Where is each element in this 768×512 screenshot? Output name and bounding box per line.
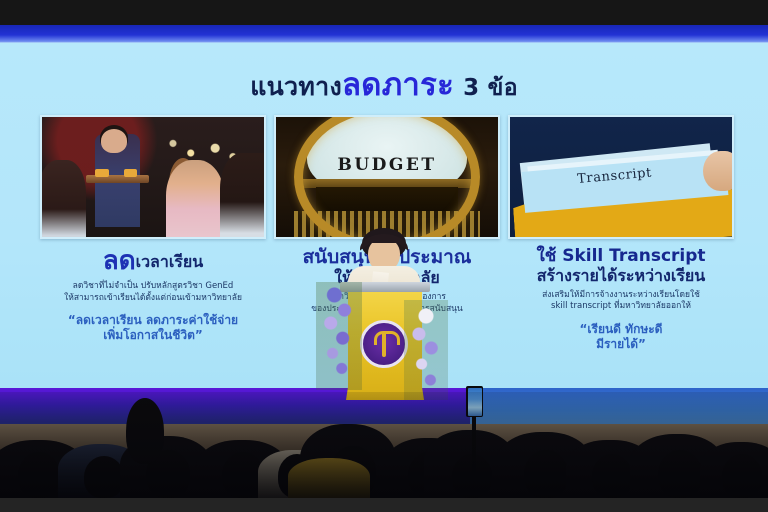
column-1-body-line-2: ให้สามารถเข้าเรียนได้ตั้งแต่ก่อนเข้ามหาว… [40, 293, 266, 304]
slide-title-prefix: แนวทาง [250, 72, 342, 101]
budget-typewriter-photo: BUDGET [274, 115, 500, 239]
column-1-quote-line-1: “ลดเวลาเรียน ลดภาระค่าใช้จ่าย [40, 313, 266, 328]
transcript-documents-photo: Transcript [508, 115, 734, 239]
phone-screen [468, 388, 482, 416]
column-1-quote-line-2: เพิ่มโอกาสในชีวิต” [40, 328, 266, 343]
column-3-quote-line-1: “เรียนดี ทักษะดี [508, 322, 734, 337]
column-3-quote-line-2: มีรายได้” [508, 337, 734, 352]
column-3-body: ส่งเสริมให้มีการจ้างงานระหว่างเรียนโดยใช… [508, 290, 734, 313]
slide-column-3: Transcript ใช้ Skill Transcript สร้างราย… [508, 115, 734, 395]
audience [0, 392, 768, 498]
column-1-quote: “ลดเวลาเรียน ลดภาระค่าใช้จ่าย เพิ่มโอกาส… [40, 313, 266, 343]
university-crest-icon [360, 320, 408, 368]
column-3-heading: ใช้ Skill Transcript สร้างรายได้ระหว่างเ… [508, 247, 734, 285]
letterbox-top [0, 0, 768, 25]
column-3-quote: “เรียนดี ทักษะดี มีรายได้” [508, 322, 734, 352]
slide-title-suffix: 3 ข้อ [463, 75, 518, 101]
column-1-heading-rest: เวลาเรียน [136, 252, 204, 271]
letterbox-bottom [0, 498, 768, 512]
recording-smartphone [466, 386, 483, 417]
column-1-body-line-1: ลดวิชาที่ไม่จำเป็น ปรับหลักสูตรวิชา GenE… [40, 281, 266, 292]
slide-top-blue-band [0, 25, 768, 43]
column-1-heading-big: ลด [103, 246, 136, 276]
column-3-body-line-2: skill transcript ที่มหาวิทยาลัยออกให้ [508, 301, 734, 312]
cafe-students-photo [40, 115, 266, 239]
flower-arrangement-right [404, 300, 448, 400]
slide-title: แนวทางลดภาระ 3 ข้อ [0, 59, 768, 109]
column-1-body: ลดวิชาที่ไม่จำเป็น ปรับหลักสูตรวิชา GenE… [40, 281, 266, 304]
column-3-heading-line-2: สร้างรายได้ระหว่างเรียน [508, 267, 734, 285]
flower-arrangement-left [316, 282, 362, 390]
column-3-body-line-1: ส่งเสริมให้มีการจ้างงานระหว่างเรียนโดยใช… [508, 290, 734, 301]
slide-title-highlight: ลดภาระ [342, 67, 454, 103]
screenshot-frame: แนวทางลดภาระ 3 ข้อ ลดเวลาเรียน [0, 0, 768, 512]
slide-column-1: ลดเวลาเรียน ลดวิชาที่ไม่จำเป็น ปรับหลักส… [40, 115, 266, 395]
column-3-heading-rest: ใช้ Skill Transcript [536, 246, 705, 266]
column-1-heading: ลดเวลาเรียน [40, 247, 266, 276]
phone-holder-arm [472, 416, 476, 472]
